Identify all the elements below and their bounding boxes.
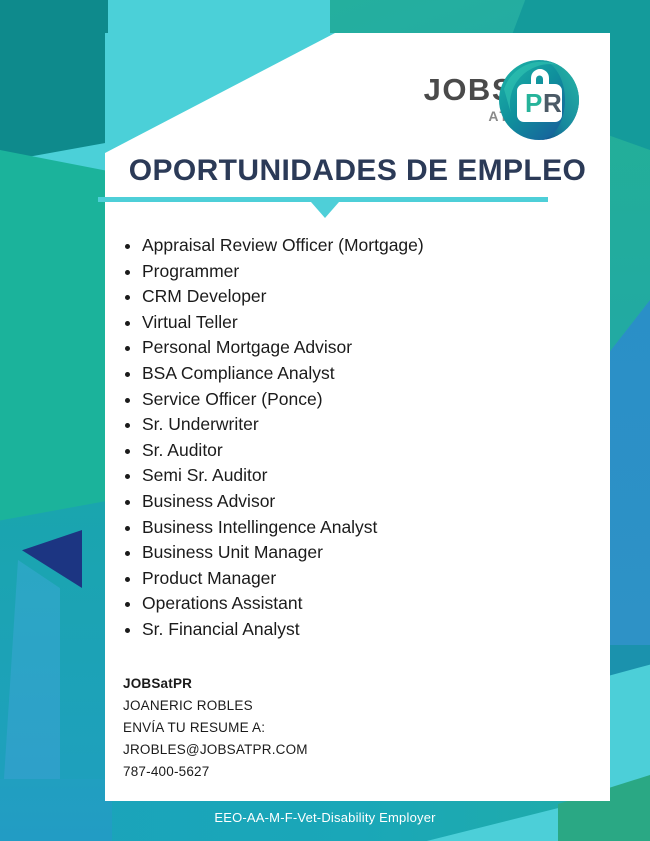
contact-instruction: ENVÍA TU RESUME A: [123, 717, 308, 739]
logo-letter-p: P [525, 88, 542, 118]
title-underline [98, 197, 548, 221]
title-underline-arrow [311, 202, 339, 218]
footer-eeo-note: EEO-AA-M-F-Vet-Disability Employer [0, 810, 650, 825]
page-title: OPORTUNIDADES DE EMPLEO [105, 154, 610, 188]
list-item: Semi Sr. Auditor [123, 463, 553, 489]
logo-letter-r: R [543, 88, 562, 118]
content-card: JOBS AT [105, 33, 610, 801]
list-item: Service Officer (Ponce) [123, 387, 553, 413]
contact-person: JOANERIC ROBLES [123, 695, 308, 717]
list-item: Sr. Financial Analyst [123, 617, 553, 643]
list-item: Business Unit Manager [123, 540, 553, 566]
logo-badge: P R [498, 59, 580, 141]
background-shape-dark-teal [0, 0, 108, 162]
contact-phone[interactable]: 787-400-5627 [123, 761, 308, 783]
list-item: Product Manager [123, 566, 553, 592]
list-item: BSA Compliance Analyst [123, 361, 553, 387]
list-item: Business Advisor [123, 489, 553, 515]
job-list: Appraisal Review Officer (Mortgage) Prog… [105, 233, 553, 643]
list-item: Virtual Teller [123, 310, 553, 336]
list-item: Operations Assistant [123, 591, 553, 617]
list-item: Programmer [123, 259, 553, 285]
list-item: Sr. Underwriter [123, 412, 553, 438]
list-item: Appraisal Review Officer (Mortgage) [123, 233, 553, 259]
briefcase-icon: P R [498, 59, 580, 141]
contact-company: JOBSatPR [123, 673, 308, 695]
list-item: CRM Developer [123, 284, 553, 310]
job-posting-flyer: JOBS AT [0, 0, 650, 841]
list-item: Business Intellingence Analyst [123, 515, 553, 541]
contact-block: JOBSatPR JOANERIC ROBLES ENVÍA TU RESUME… [123, 673, 308, 783]
brand-logo: JOBS AT [424, 55, 580, 145]
list-item: Sr. Auditor [123, 438, 553, 464]
card-corner-diagonal [105, 33, 335, 153]
contact-email[interactable]: JROBLES@JOBSATPR.COM [123, 739, 308, 761]
list-item: Personal Mortgage Advisor [123, 335, 553, 361]
